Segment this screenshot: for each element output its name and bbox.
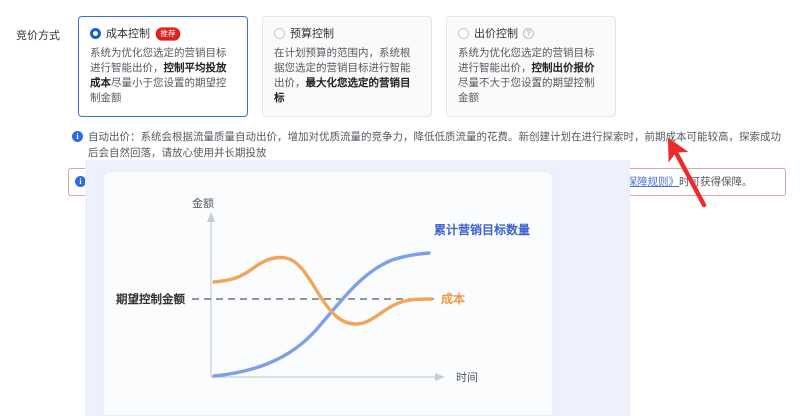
notice-text-post: 时可获得保障。 — [679, 176, 753, 188]
bid-mode-label: 竞价方式 — [0, 16, 78, 46]
chart-y-axis-label: 金额 — [192, 196, 214, 210]
bid-option-description: 在计划预算的范围内，系统根据您选定的营销目标进行智能出价，最大化您选定的营销目标 — [274, 46, 420, 106]
y-axis-arrowhead-icon — [207, 212, 215, 222]
radio-selected-icon[interactable] — [90, 28, 101, 39]
bid-mode-form-row: 竞价方式 成本控制 推荐 系统为优化您选定的营销目标进行智能出价，控制平均投放成… — [0, 0, 800, 117]
series-label-cumulative-target: 累计营销目标数量 — [434, 222, 530, 237]
bid-option-title: 成本控制 — [106, 27, 150, 41]
radio-unselected-icon[interactable] — [458, 28, 469, 39]
bid-option-description: 系统为优化您选定的营销目标进行智能出价，控制平均投放成本尽量小于您设置的期望控制… — [90, 46, 236, 106]
bid-mode-explainer-chart: 金额 时间 期望控制金额 累计营销目标数量 成本 — [104, 172, 553, 416]
info-icon: i — [72, 131, 83, 142]
chart-x-axis-label: 时间 — [456, 371, 478, 384]
desc-part-2: 尽量小于您设置的期望控制金额 — [90, 77, 227, 104]
card-header: 出价控制 ? — [458, 26, 604, 41]
chart-illustration-card: 金额 时间 期望控制金额 累计营销目标数量 成本 — [103, 171, 553, 416]
series-label-cost: 成本 — [441, 291, 465, 306]
chart-panel-background: 金额 时间 期望控制金额 累计营销目标数量 成本 — [85, 160, 630, 416]
notice-auto-bid: i 自动出价：系统会根据流量质量自动出价，增加对优质流量的竞争力，降低低质流量的… — [68, 129, 786, 161]
bid-option-card-cost-control[interactable]: 成本控制 推荐 系统为优化您选定的营销目标进行智能出价，控制平均投放成本尽量小于… — [78, 16, 248, 117]
card-header: 成本控制 推荐 — [90, 26, 236, 41]
bid-mode-option-cards: 成本控制 推荐 系统为优化您选定的营销目标进行智能出价，控制平均投放成本尽量小于… — [78, 16, 616, 117]
question-mark-icon[interactable]: ? — [523, 28, 534, 39]
x-axis-arrowhead-icon — [435, 373, 445, 381]
recommended-badge: 推荐 — [156, 27, 181, 40]
bid-option-card-budget-control[interactable]: 预算控制 在计划预算的范围内，系统根据您选定的营销目标进行智能出价，最大化您选定… — [262, 16, 432, 117]
desc-part-2: 尽量不大于您设置的期望控制金额 — [458, 77, 595, 104]
radio-unselected-icon[interactable] — [274, 28, 285, 39]
notice-text: 自动出价：系统会根据流量质量自动出价，增加对优质流量的竞争力，降低低质流量的花费… — [88, 129, 786, 161]
bid-option-title: 预算控制 — [290, 27, 334, 41]
desc-highlight: 控制出价报价 — [532, 62, 595, 74]
series-line-cost — [214, 257, 431, 324]
bid-option-description: 系统为优化您选定的营销目标进行智能出价，控制出价报价尽量不大于您设置的期望控制金… — [458, 46, 604, 106]
card-header: 预算控制 — [274, 26, 420, 41]
expected-control-amount-label: 期望控制金额 — [116, 292, 185, 306]
bid-option-title: 出价控制 — [474, 27, 518, 41]
bid-option-card-bid-control[interactable]: 出价控制 ? 系统为优化您选定的营销目标进行智能出价，控制出价报价尽量不大于您设… — [446, 16, 616, 117]
